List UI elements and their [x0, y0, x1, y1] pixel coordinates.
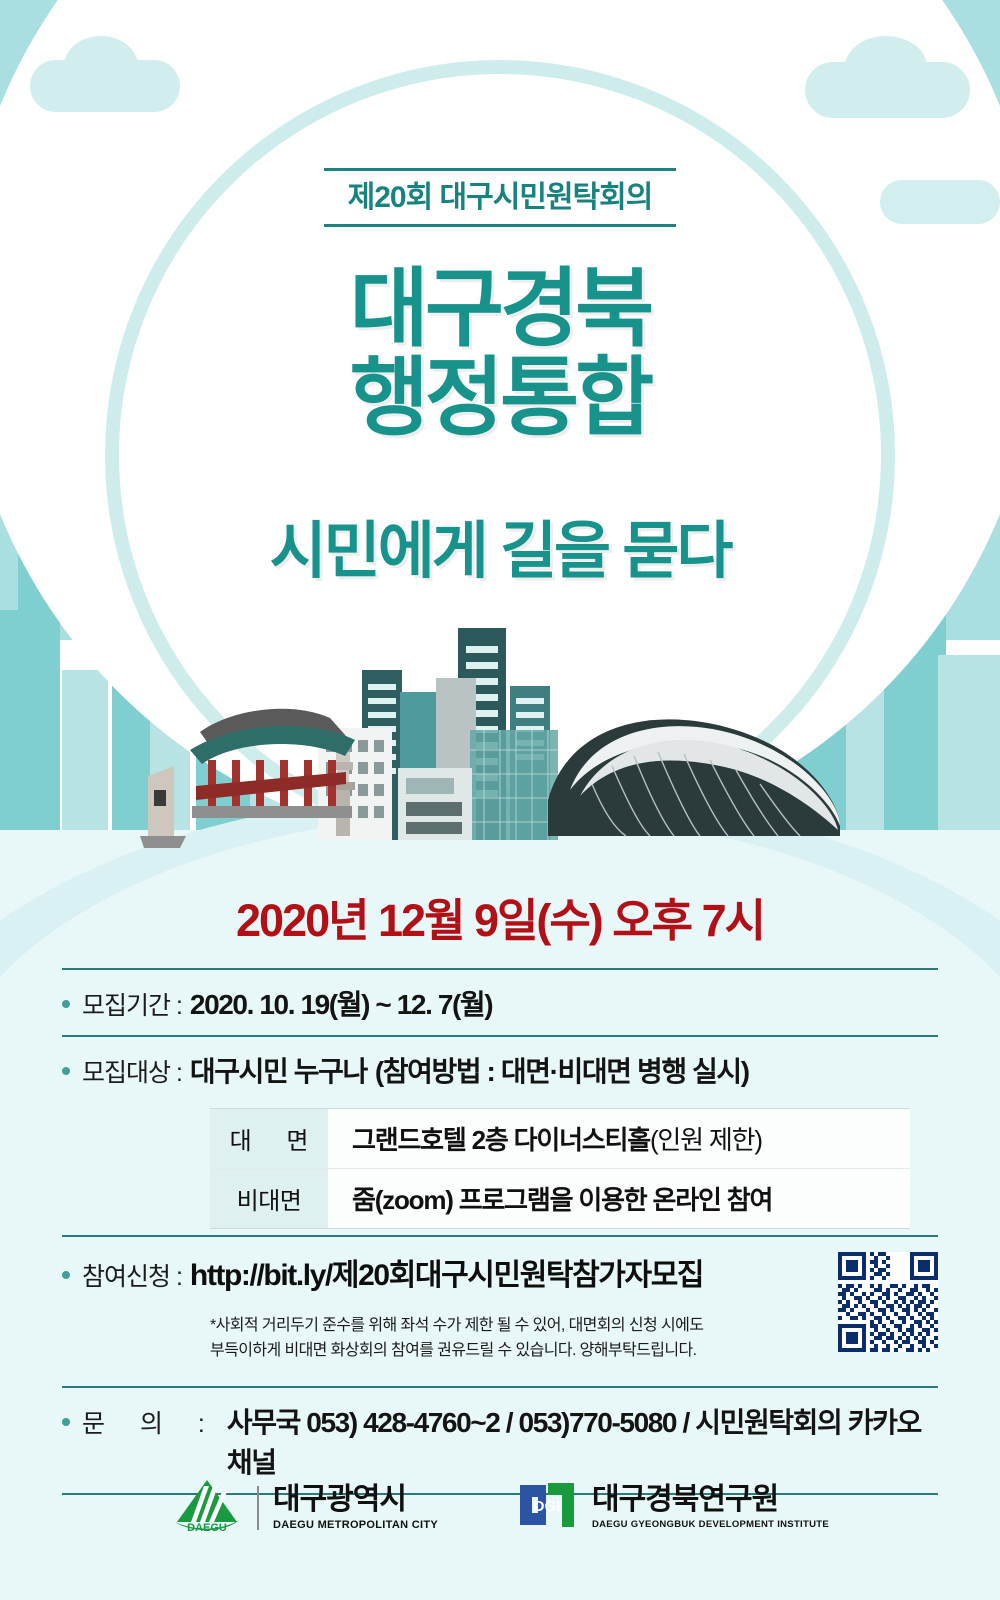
logo-dgi: DGI 대구경북연구원 DAEGU GYEONGBUK DEVELOPMENT …	[516, 1477, 829, 1538]
dgi-text: 대구경북연구원 DAEGU GYEONGBUK DEVELOPMENT INST…	[592, 1485, 829, 1530]
event-date: 2020년 12월 9일(수) 오후 7시	[0, 884, 1000, 949]
logo-daegu-city: DAEGU 대구광역시 DAEGU METROPOLITAN CITY	[171, 1476, 438, 1539]
logo-divider	[257, 1486, 259, 1530]
venue-offline-main: 그랜드호텔 2층 다이너스티홀	[352, 1120, 650, 1157]
audience-label: 모집대상 :	[82, 1053, 182, 1089]
cloud-icon	[30, 60, 180, 112]
daegu-city-kr: 대구광역시	[273, 1485, 438, 1515]
title-line-1: 대구경북	[0, 265, 1000, 354]
info-block: 모집기간 : 2020. 10. 19(월) ~ 12. 7(월) 모집대상 :…	[62, 968, 938, 1495]
apply-note-line-2: 부득이하게 비대면 화상회의 참여를 권유드릴 수 있습니다. 양해부탁드립니다…	[210, 1339, 870, 1364]
daegu-city-en: DAEGU METROPOLITAN CITY	[273, 1520, 438, 1531]
bullet-icon	[62, 1418, 70, 1426]
apply-url[interactable]: http://bit.ly/제20회대구시민원탁참가자모집	[190, 1250, 703, 1294]
bullet-icon	[62, 1067, 70, 1075]
dgi-en: DAEGU GYEONGBUK DEVELOPMENT INSTITUTE	[592, 1520, 829, 1530]
title-line-2: 행정통합	[0, 354, 1000, 443]
row-apply: 참여신청 : http://bit.ly/제20회대구시민원탁참가자모집	[62, 1237, 938, 1306]
period-value: 2020. 10. 19(월) ~ 12. 7(월)	[190, 983, 492, 1023]
table-key-online: 비대면	[210, 1169, 328, 1228]
subtitle: 시민에게 길을 묻다	[0, 500, 1000, 590]
venue-offline-note: (인원 제한)	[650, 1120, 762, 1157]
table-value-offline: 그랜드호텔 2층 다이너스티홀 (인원 제한)	[328, 1109, 910, 1168]
table-value-online: 줌(zoom) 프로그램을 이용한 온라인 참여	[328, 1169, 910, 1228]
contact-label: 문 의 :	[82, 1404, 219, 1440]
dgi-kr: 대구경북연구원	[592, 1485, 829, 1515]
main-title: 대구경북 행정통합	[0, 265, 1000, 444]
kicker-text: 제20회 대구시민원탁회의	[0, 171, 1000, 224]
apply-note-line-1: *사회적 거리두기 준수를 위해 좌석 수가 제한 될 수 있어, 대면회의 신…	[210, 1314, 870, 1339]
poster: 제20회 대구시민원탁회의 대구경북 행정통합 시민에게 길을 묻다 2020년…	[0, 0, 1000, 1600]
bullet-icon	[62, 1271, 70, 1279]
daegu-mark-label: DAEGU	[187, 1522, 227, 1534]
kicker-rule-bottom	[324, 224, 676, 227]
row-period: 모집기간 : 2020. 10. 19(월) ~ 12. 7(월)	[62, 970, 938, 1035]
audience-value: 대구시민 누구나	[190, 1050, 367, 1090]
dgi-mark-label: DGI	[534, 1498, 561, 1515]
bullet-icon	[62, 1000, 70, 1008]
logo-bar: DAEGU 대구광역시 DAEGU METROPOLITAN CITY DGI	[0, 1476, 1000, 1539]
city-illustration	[140, 600, 920, 860]
contact-value: 사무국 053) 428-4760~2 / 053)770-5080 / 시민원…	[227, 1401, 938, 1481]
qr-code-svg	[838, 1252, 938, 1352]
table-key-offline: 대 면	[210, 1109, 328, 1168]
apply-note: *사회적 거리두기 준수를 위해 좌석 수가 제한 될 수 있어, 대면회의 신…	[210, 1314, 870, 1364]
dgi-logo-icon: DGI	[516, 1477, 578, 1538]
venue-online-main: 줌(zoom) 프로그램을 이용한 온라인 참여	[352, 1180, 772, 1217]
daegu-city-text: 대구광역시 DAEGU METROPOLITAN CITY	[273, 1485, 438, 1531]
city-illustration-svg	[140, 600, 920, 860]
table-row: 비대면 줌(zoom) 프로그램을 이용한 온라인 참여	[210, 1169, 910, 1228]
row-audience: 모집대상 : 대구시민 누구나 (참여방법 : 대면·비대면 병행 실시)	[62, 1037, 938, 1102]
table-row: 대 면 그랜드호텔 2층 다이너스티홀 (인원 제한)	[210, 1109, 910, 1169]
daegu-city-logo-icon: DAEGU	[171, 1476, 243, 1539]
audience-method: (참여방법 : 대면·비대면 병행 실시)	[375, 1050, 749, 1090]
qr-code[interactable]	[838, 1252, 938, 1352]
cloud-icon	[805, 62, 970, 118]
period-label: 모집기간 :	[82, 986, 182, 1022]
kicker-block: 제20회 대구시민원탁회의	[0, 168, 1000, 227]
venue-table: 대 면 그랜드호텔 2층 다이너스티홀 (인원 제한) 비대면 줌(zoom) …	[210, 1108, 910, 1229]
apply-label: 참여신청 :	[82, 1257, 182, 1293]
